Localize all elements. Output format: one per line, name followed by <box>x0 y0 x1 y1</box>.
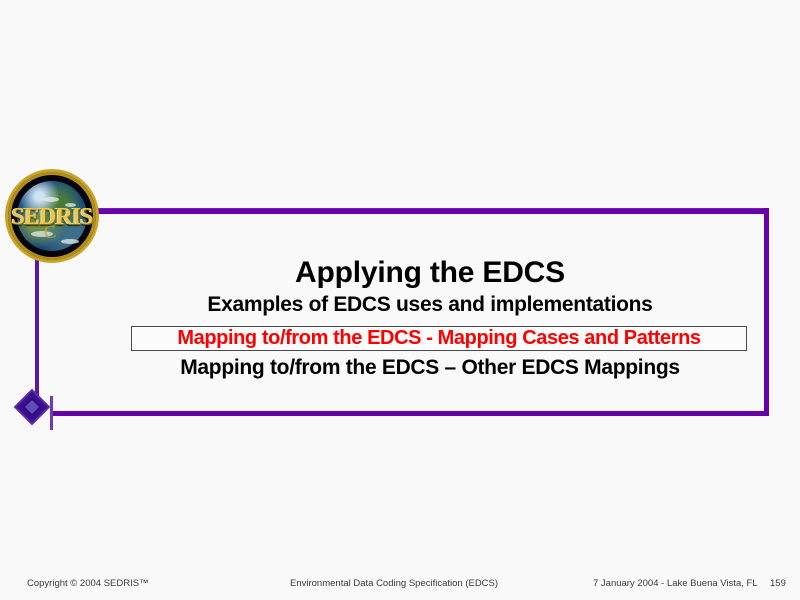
frame-left-line <box>35 258 39 410</box>
footer-spec-name: Environmental Data Coding Specification … <box>290 578 498 589</box>
footer-copyright: Copyright © 2004 SEDRIS™ <box>27 578 149 589</box>
frame-top-line <box>95 208 769 214</box>
page-subtitle: Examples of EDCS uses and implementation… <box>100 292 760 318</box>
footer-page-number: 159 <box>770 578 786 589</box>
slide-footer: Copyright © 2004 SEDRIS™ Environmental D… <box>0 578 800 594</box>
logo-wordmark: SEDRIS <box>8 205 96 229</box>
cloud-shape <box>43 197 59 202</box>
current-section-label: Mapping to/from the EDCS - Mapping Cases… <box>132 327 746 350</box>
footer-event-info: 7 January 2004 - Lake Buena Vista, FL <box>593 578 758 589</box>
cloud-shape <box>61 239 79 244</box>
frame-right-line <box>764 208 769 416</box>
current-section-highlight-box[interactable]: Mapping to/from the EDCS - Mapping Cases… <box>131 326 747 351</box>
slide-canvas: C SEDRIS Applying the EDCS Examples of E… <box>0 0 800 600</box>
page-title: Applying the EDCS <box>100 256 760 290</box>
diamond-bullet-icon <box>18 394 56 430</box>
sedris-logo: C SEDRIS <box>8 172 96 260</box>
title-block: Applying the EDCS Examples of EDCS uses … <box>100 256 760 318</box>
other-section-label: Mapping to/from the EDCS – Other EDCS Ma… <box>100 355 760 381</box>
frame-bottom-line <box>51 411 769 416</box>
